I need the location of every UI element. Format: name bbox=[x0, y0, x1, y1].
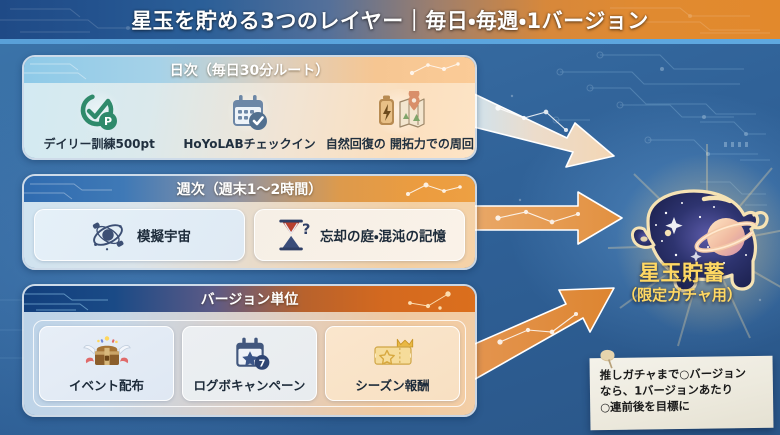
daily-item-stamina[interactable]: 自然回復の 開拓力での周回 bbox=[325, 89, 475, 151]
goal-piggy-bank[interactable] bbox=[604, 155, 780, 335]
panel-version-body: イベント配布 7 ログボキャンペーン bbox=[24, 312, 475, 415]
version-card-event[interactable]: イベント配布 bbox=[39, 326, 174, 401]
version-card-group: イベント配布 7 ログボキャンペーン bbox=[33, 320, 466, 407]
weekly-card-forgotten-hall-label: 忘却の庭・混沌の記憶 bbox=[320, 225, 446, 245]
version-card-login-bonus[interactable]: 7 ログボキャンペーン bbox=[182, 326, 317, 401]
winged-treasure-chest-icon bbox=[83, 333, 131, 373]
weekly-card-simulated-universe-label: 模擬宇宙 bbox=[137, 225, 191, 245]
galaxy-piggy-bank-icon bbox=[604, 155, 780, 335]
panel-weekly-title: 週次（週末1〜2時間） bbox=[177, 179, 322, 199]
panel-daily-header: 日次（毎日30分ルート） bbox=[24, 57, 475, 83]
sticky-note-text: 推しガチャまで○バージョン なら、1バージョンあたり ○連前後を目標に bbox=[600, 365, 766, 416]
svg-text:P: P bbox=[104, 115, 112, 128]
version-card-season-reward[interactable]: シーズン報酬 bbox=[325, 326, 460, 401]
svg-text:7: 7 bbox=[258, 359, 265, 370]
panel-daily[interactable]: 日次（毎日30分ルート） P デイリー訓練500pt bbox=[22, 55, 477, 160]
sticky-note[interactable]: 推しガチャまで○バージョン なら、1バージョンあたり ○連前後を目標に bbox=[590, 356, 774, 431]
goal-subtitle: （限定ガチャ用） bbox=[584, 286, 780, 304]
panel-weekly-header: 週次（週末1〜2時間） bbox=[24, 176, 475, 202]
header-banner: 星玉を貯める3つのレイヤー｜毎日・毎週・1バージョン bbox=[0, 0, 780, 39]
daily-item-training-label: デイリー訓練500pt bbox=[43, 138, 154, 151]
page-title: 星玉を貯める3つのレイヤー｜毎日・毎週・1バージョン bbox=[131, 5, 648, 35]
panel-version-header: バージョン単位 bbox=[24, 286, 475, 312]
daily-item-hoyolab-label: HoYoLABチェックイン bbox=[183, 138, 315, 151]
goal-label-group: 星玉貯蓄 （限定ガチャ用） bbox=[584, 262, 780, 304]
hourglass-question-icon: ? bbox=[273, 216, 311, 254]
svg-text:?: ? bbox=[302, 222, 310, 238]
panel-daily-title: 日次（毎日30分ルート） bbox=[170, 60, 329, 80]
thumbtack-icon bbox=[597, 349, 619, 371]
crown-ticket-icon bbox=[369, 333, 417, 373]
goal-title: 星玉貯蓄 bbox=[584, 262, 780, 285]
daily-item-hoyolab[interactable]: HoYoLABチェックイン bbox=[174, 89, 324, 151]
panel-weekly-body: 模擬宇宙 ? 忘却の庭・混沌の記憶 bbox=[24, 202, 475, 268]
calendar-star-seven-icon: 7 bbox=[226, 333, 274, 373]
version-card-event-label: イベント配布 bbox=[69, 375, 144, 394]
panel-version[interactable]: バージョン単位 bbox=[22, 284, 477, 417]
header-underline bbox=[0, 39, 780, 44]
version-card-login-bonus-label: ログボキャンペーン bbox=[194, 375, 306, 394]
version-card-season-reward-label: シーズン報酬 bbox=[355, 375, 429, 394]
panel-daily-body: P デイリー訓練500pt bbox=[24, 83, 475, 158]
panel-weekly[interactable]: 週次（週末1〜2時間） 模擬宇宙 bbox=[22, 174, 477, 270]
daily-item-stamina-label: 自然回復の 開拓力での周回 bbox=[326, 138, 474, 151]
infographic-canvas: 星玉を貯める3つのレイヤー｜毎日・毎週・1バージョン bbox=[0, 0, 780, 435]
atom-orbit-icon bbox=[88, 215, 128, 255]
calendar-check-icon bbox=[226, 89, 272, 135]
check-circle-p-icon: P bbox=[76, 89, 122, 135]
panel-version-title: バージョン単位 bbox=[201, 289, 299, 309]
battery-map-icon bbox=[369, 89, 431, 135]
weekly-card-simulated-universe[interactable]: 模擬宇宙 bbox=[34, 209, 245, 261]
daily-item-training[interactable]: P デイリー訓練500pt bbox=[24, 89, 174, 151]
weekly-card-forgotten-hall[interactable]: ? 忘却の庭・混沌の記憶 bbox=[254, 209, 465, 261]
